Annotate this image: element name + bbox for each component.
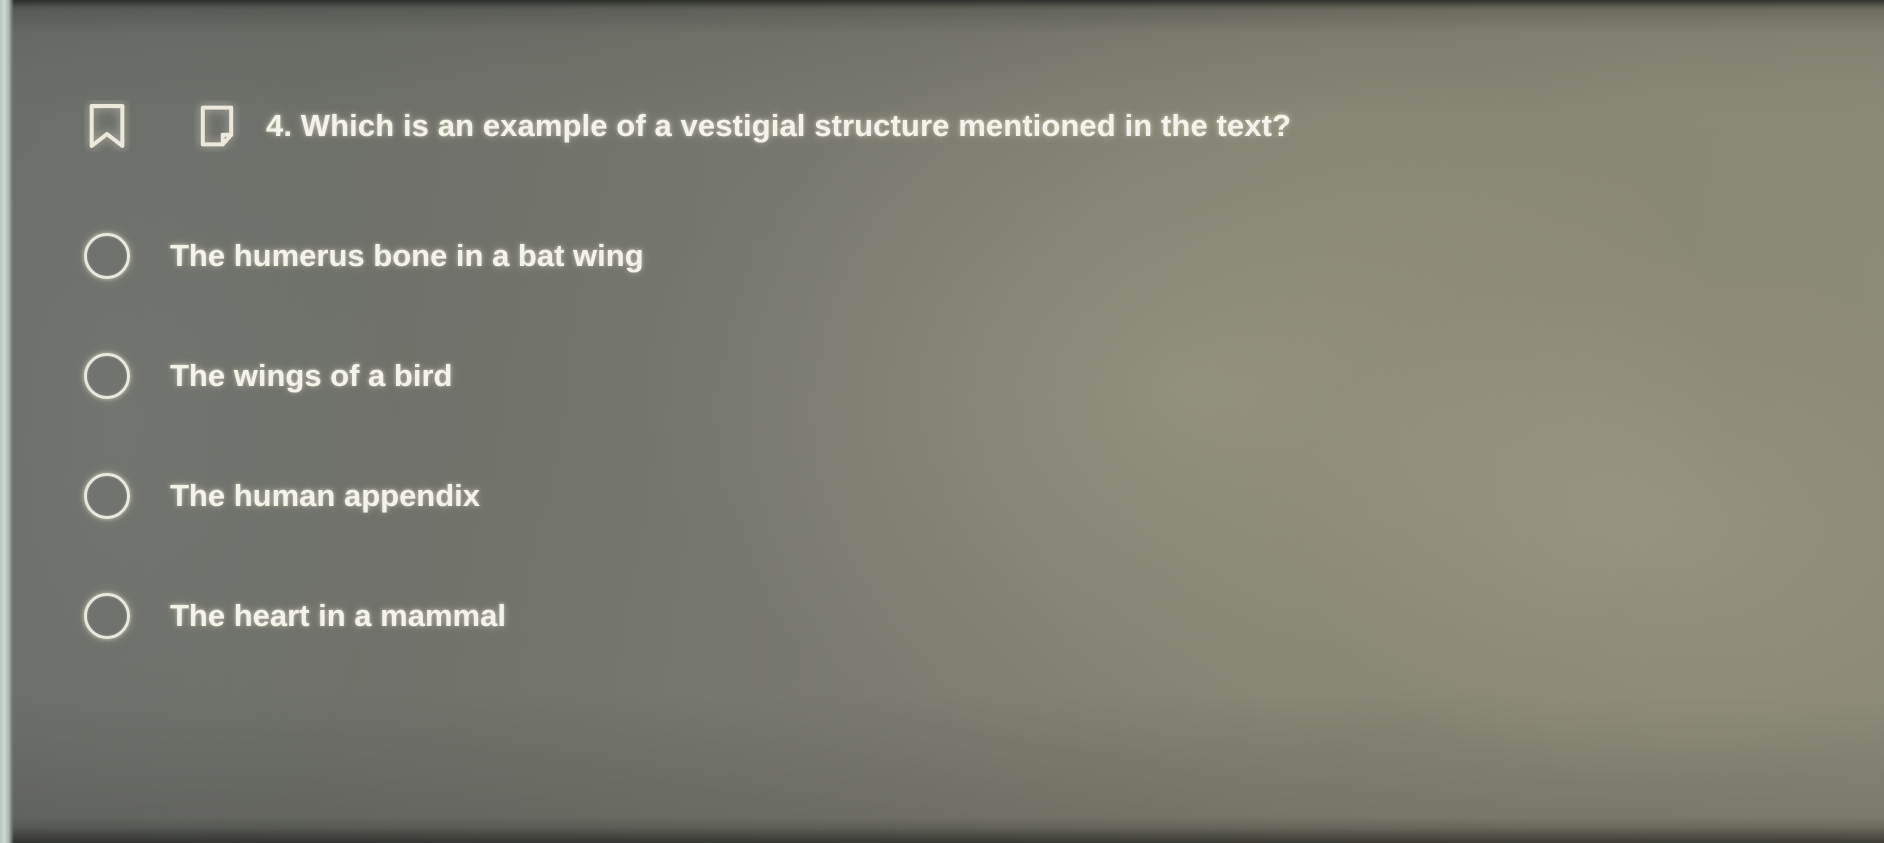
radio-unchecked-icon[interactable]	[84, 353, 130, 399]
quiz-screen: 4. Which is an example of a vestigial st…	[0, 0, 1884, 843]
option-label-a: The humerus bone in a bat wing	[170, 238, 644, 274]
bookmark-icon[interactable]	[84, 100, 130, 152]
question-text: 4. Which is an example of a vestigial st…	[266, 108, 1291, 144]
radio-unchecked-icon[interactable]	[84, 473, 130, 519]
option-row-a[interactable]: The humerus bone in a bat wing	[84, 196, 1384, 316]
option-row-b[interactable]: The wings of a bird	[84, 316, 1384, 436]
question-header: 4. Which is an example of a vestigial st…	[84, 100, 1291, 152]
note-icon[interactable]	[194, 100, 240, 152]
option-row-c[interactable]: The human appendix	[84, 436, 1384, 556]
option-label-d: The heart in a mammal	[170, 598, 506, 634]
quiz-content: 4. Which is an example of a vestigial st…	[0, 0, 1884, 843]
option-row-d[interactable]: The heart in a mammal	[84, 556, 1384, 676]
radio-unchecked-icon[interactable]	[84, 593, 130, 639]
option-label-b: The wings of a bird	[170, 358, 452, 394]
option-label-c: The human appendix	[170, 478, 480, 514]
options-list: The humerus bone in a bat wing The wings…	[84, 196, 1384, 676]
radio-unchecked-icon[interactable]	[84, 233, 130, 279]
